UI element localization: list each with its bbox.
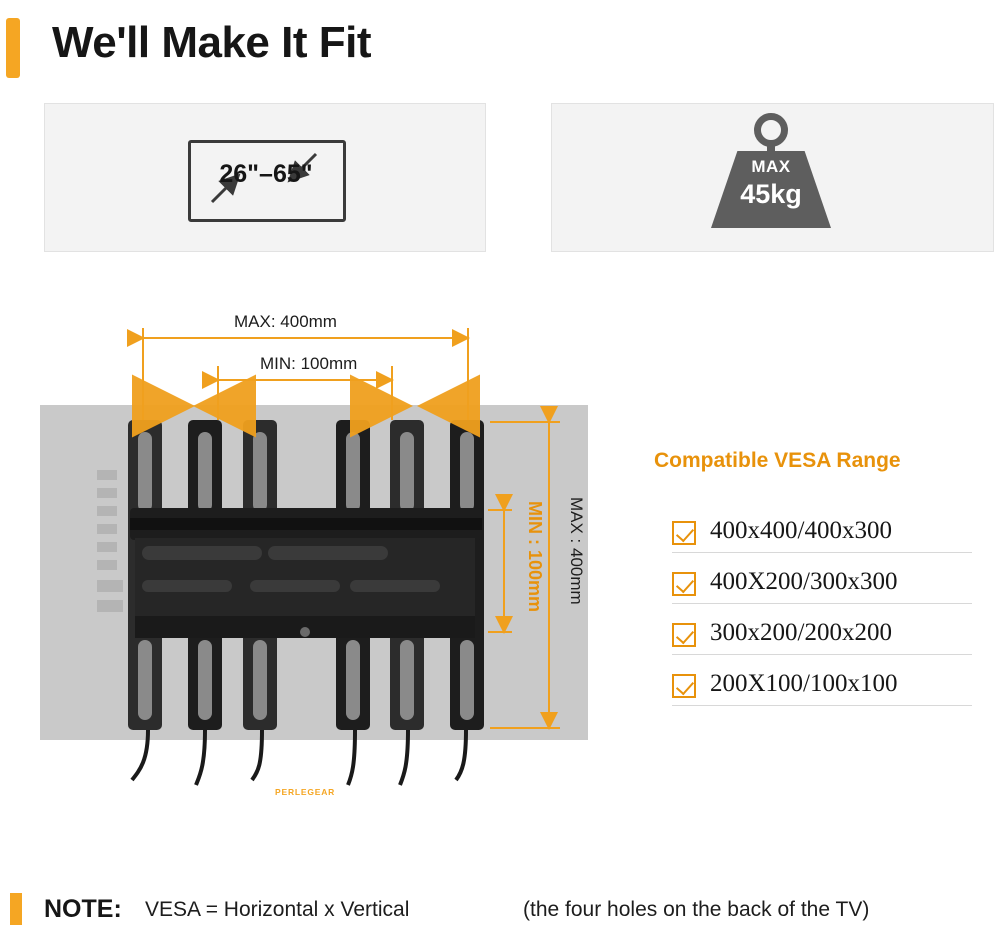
- dimension-min-width: MIN: 100mm: [260, 354, 357, 374]
- vesa-option-label: 400X200/300x300: [710, 568, 898, 596]
- vesa-option-label: 300x200/200x200: [710, 619, 892, 647]
- note-accent-bar: [10, 893, 22, 925]
- weight-max-label: MAX: [711, 157, 831, 177]
- note-parenthetical: (the four holes on the back of the TV): [523, 898, 869, 922]
- page-root: We'll Make It Fit 26"–65" MAX 45kg: [0, 0, 1000, 930]
- divider: [672, 654, 972, 655]
- divider: [672, 603, 972, 604]
- weight-icon: MAX 45kg: [711, 113, 831, 228]
- screen-size-label: 26"–65": [201, 160, 331, 189]
- check-icon: [672, 674, 696, 698]
- header-accent-bar: [6, 18, 20, 78]
- check-icon: [672, 623, 696, 647]
- vesa-range-title: Compatible VESA Range: [654, 449, 901, 473]
- dimension-max-height: MAX : 400mm: [566, 497, 586, 605]
- dimension-max-width: MAX: 400mm: [234, 312, 337, 332]
- vesa-option-label: 400x400/400x300: [710, 517, 892, 545]
- vesa-option-label: 200X100/100x100: [710, 670, 898, 698]
- note-text: VESA = Horizontal x Vertical: [145, 898, 409, 922]
- page-title: We'll Make It Fit: [52, 18, 371, 68]
- check-icon: [672, 572, 696, 596]
- note-label: NOTE:: [44, 895, 122, 924]
- brand-mark: PERLEGEAR: [275, 787, 335, 797]
- weight-value-label: 45kg: [711, 179, 831, 210]
- divider: [672, 552, 972, 553]
- check-icon: [672, 521, 696, 545]
- dimension-min-height: MIN : 100mm: [524, 501, 545, 612]
- divider: [672, 705, 972, 706]
